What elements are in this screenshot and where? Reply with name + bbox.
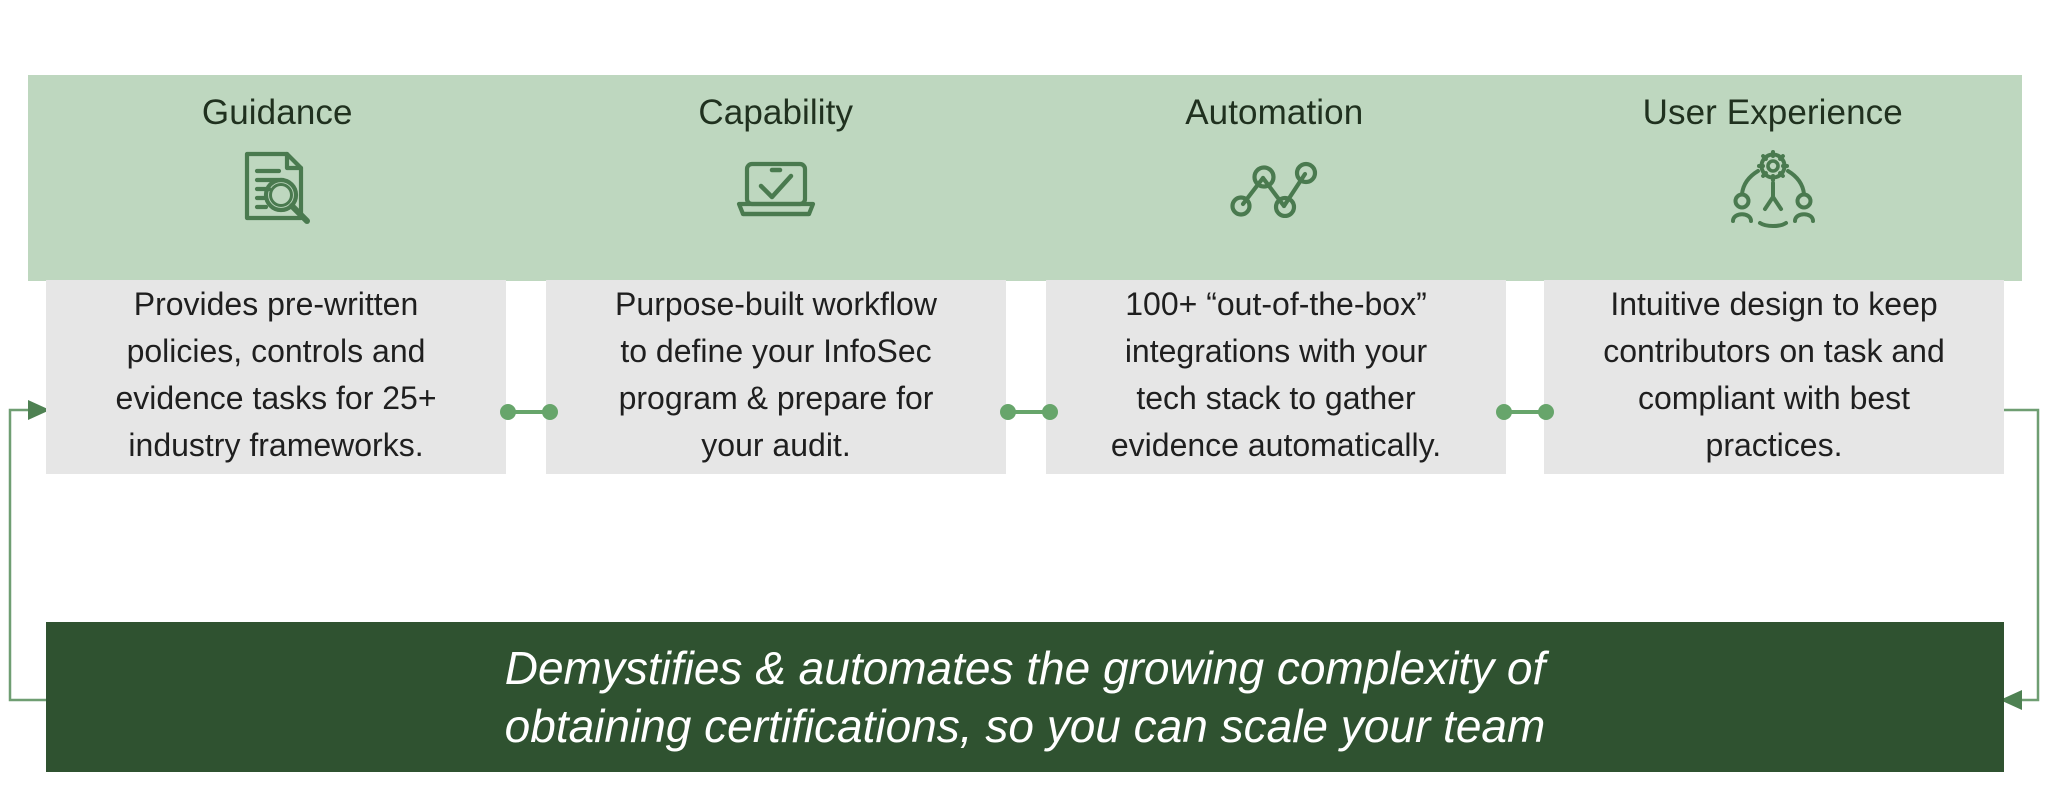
- card-capability-text: Purpose-built workflow to define your In…: [560, 281, 992, 469]
- summary-banner-line-2: obtaining certifications, so you can sca…: [86, 697, 1964, 755]
- connector-dot-right: [1042, 404, 1058, 420]
- connector-bar: [1508, 410, 1542, 414]
- card-user-experience-text: Intuitive design to keep contributors on…: [1558, 281, 1990, 469]
- column-title-automation: Automation: [1185, 93, 1363, 133]
- card-guidance-text: Provides pre-written policies, controls …: [60, 281, 492, 469]
- connector-bar: [512, 410, 546, 414]
- card-user-experience[interactable]: Intuitive design to keep contributors on…: [1544, 280, 2004, 474]
- connector-dot-right: [542, 404, 558, 420]
- column-title-guidance: Guidance: [202, 93, 353, 133]
- header-column-guidance: Guidance: [28, 75, 527, 281]
- laptop-check-icon: [728, 146, 824, 232]
- summary-banner-line-1: Demystifies & automates the growing comp…: [86, 639, 1964, 697]
- connector-capability-automation: [1000, 402, 1058, 422]
- connector-bar: [1012, 410, 1046, 414]
- feedback-loop-arrow-left: [10, 400, 50, 700]
- card-guidance[interactable]: Provides pre-written policies, controls …: [46, 280, 506, 474]
- header-column-capability: Capability: [527, 75, 1026, 281]
- document-magnifier-icon: [229, 146, 325, 232]
- header-band: Guidance: [28, 75, 2022, 281]
- feedback-loop-arrow-right: [2000, 410, 2038, 710]
- infographic-canvas: Guidance: [0, 0, 2048, 805]
- card-capability[interactable]: Purpose-built workflow to define your In…: [546, 280, 1006, 474]
- summary-banner-text: Demystifies & automates the growing comp…: [46, 639, 2004, 755]
- card-automation-text: 100+ “out-of-the-box” integrations with …: [1060, 281, 1492, 469]
- header-column-user-experience: User Experience: [1524, 75, 2023, 281]
- people-gear-collaboration-icon: [1725, 146, 1821, 232]
- column-title-user-experience: User Experience: [1643, 93, 1903, 133]
- connector-automation-user-experience: [1496, 402, 1554, 422]
- cards-row: Provides pre-written policies, controls …: [46, 280, 2004, 474]
- node-graph-icon: [1226, 146, 1322, 232]
- card-automation[interactable]: 100+ “out-of-the-box” integrations with …: [1046, 280, 1506, 474]
- column-title-capability: Capability: [698, 93, 853, 133]
- summary-banner: Demystifies & automates the growing comp…: [46, 622, 2004, 772]
- header-column-automation: Automation: [1025, 75, 1524, 281]
- connector-guidance-capability: [500, 402, 558, 422]
- connector-dot-right: [1538, 404, 1554, 420]
